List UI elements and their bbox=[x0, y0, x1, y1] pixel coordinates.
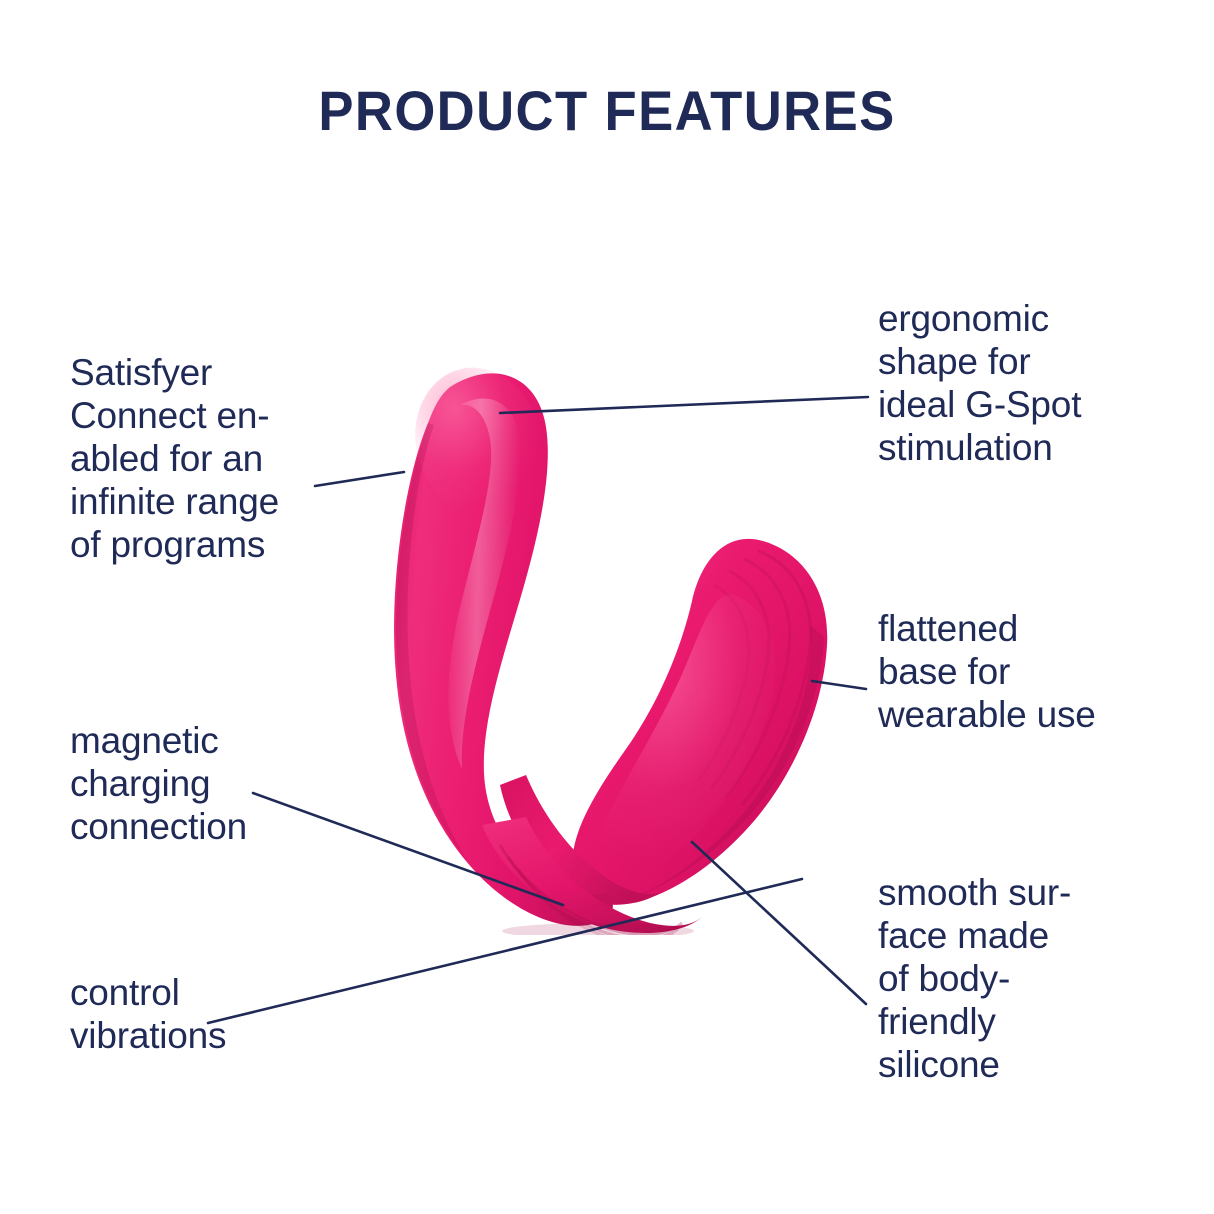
callout-control-vibrations: control vibrations bbox=[70, 972, 340, 1058]
callout-smooth-surface: smooth sur- face made of body- friendly … bbox=[878, 872, 1158, 1087]
product-right-arm bbox=[573, 539, 828, 905]
callout-satisfyer-connect: Satisfyer Connect en- abled for an infin… bbox=[70, 352, 340, 567]
page-title: PRODUCT FEATURES bbox=[36, 78, 1177, 143]
product-features-infographic: PRODUCT FEATURES bbox=[0, 0, 1214, 1214]
callout-magnetic-charging: magnetic charging connection bbox=[70, 720, 340, 849]
callout-flattened-base: flattened base for wearable use bbox=[878, 608, 1168, 737]
product-image bbox=[330, 345, 880, 935]
callout-ergonomic-shape: ergonomic shape for ideal G-Spot stimula… bbox=[878, 298, 1163, 470]
